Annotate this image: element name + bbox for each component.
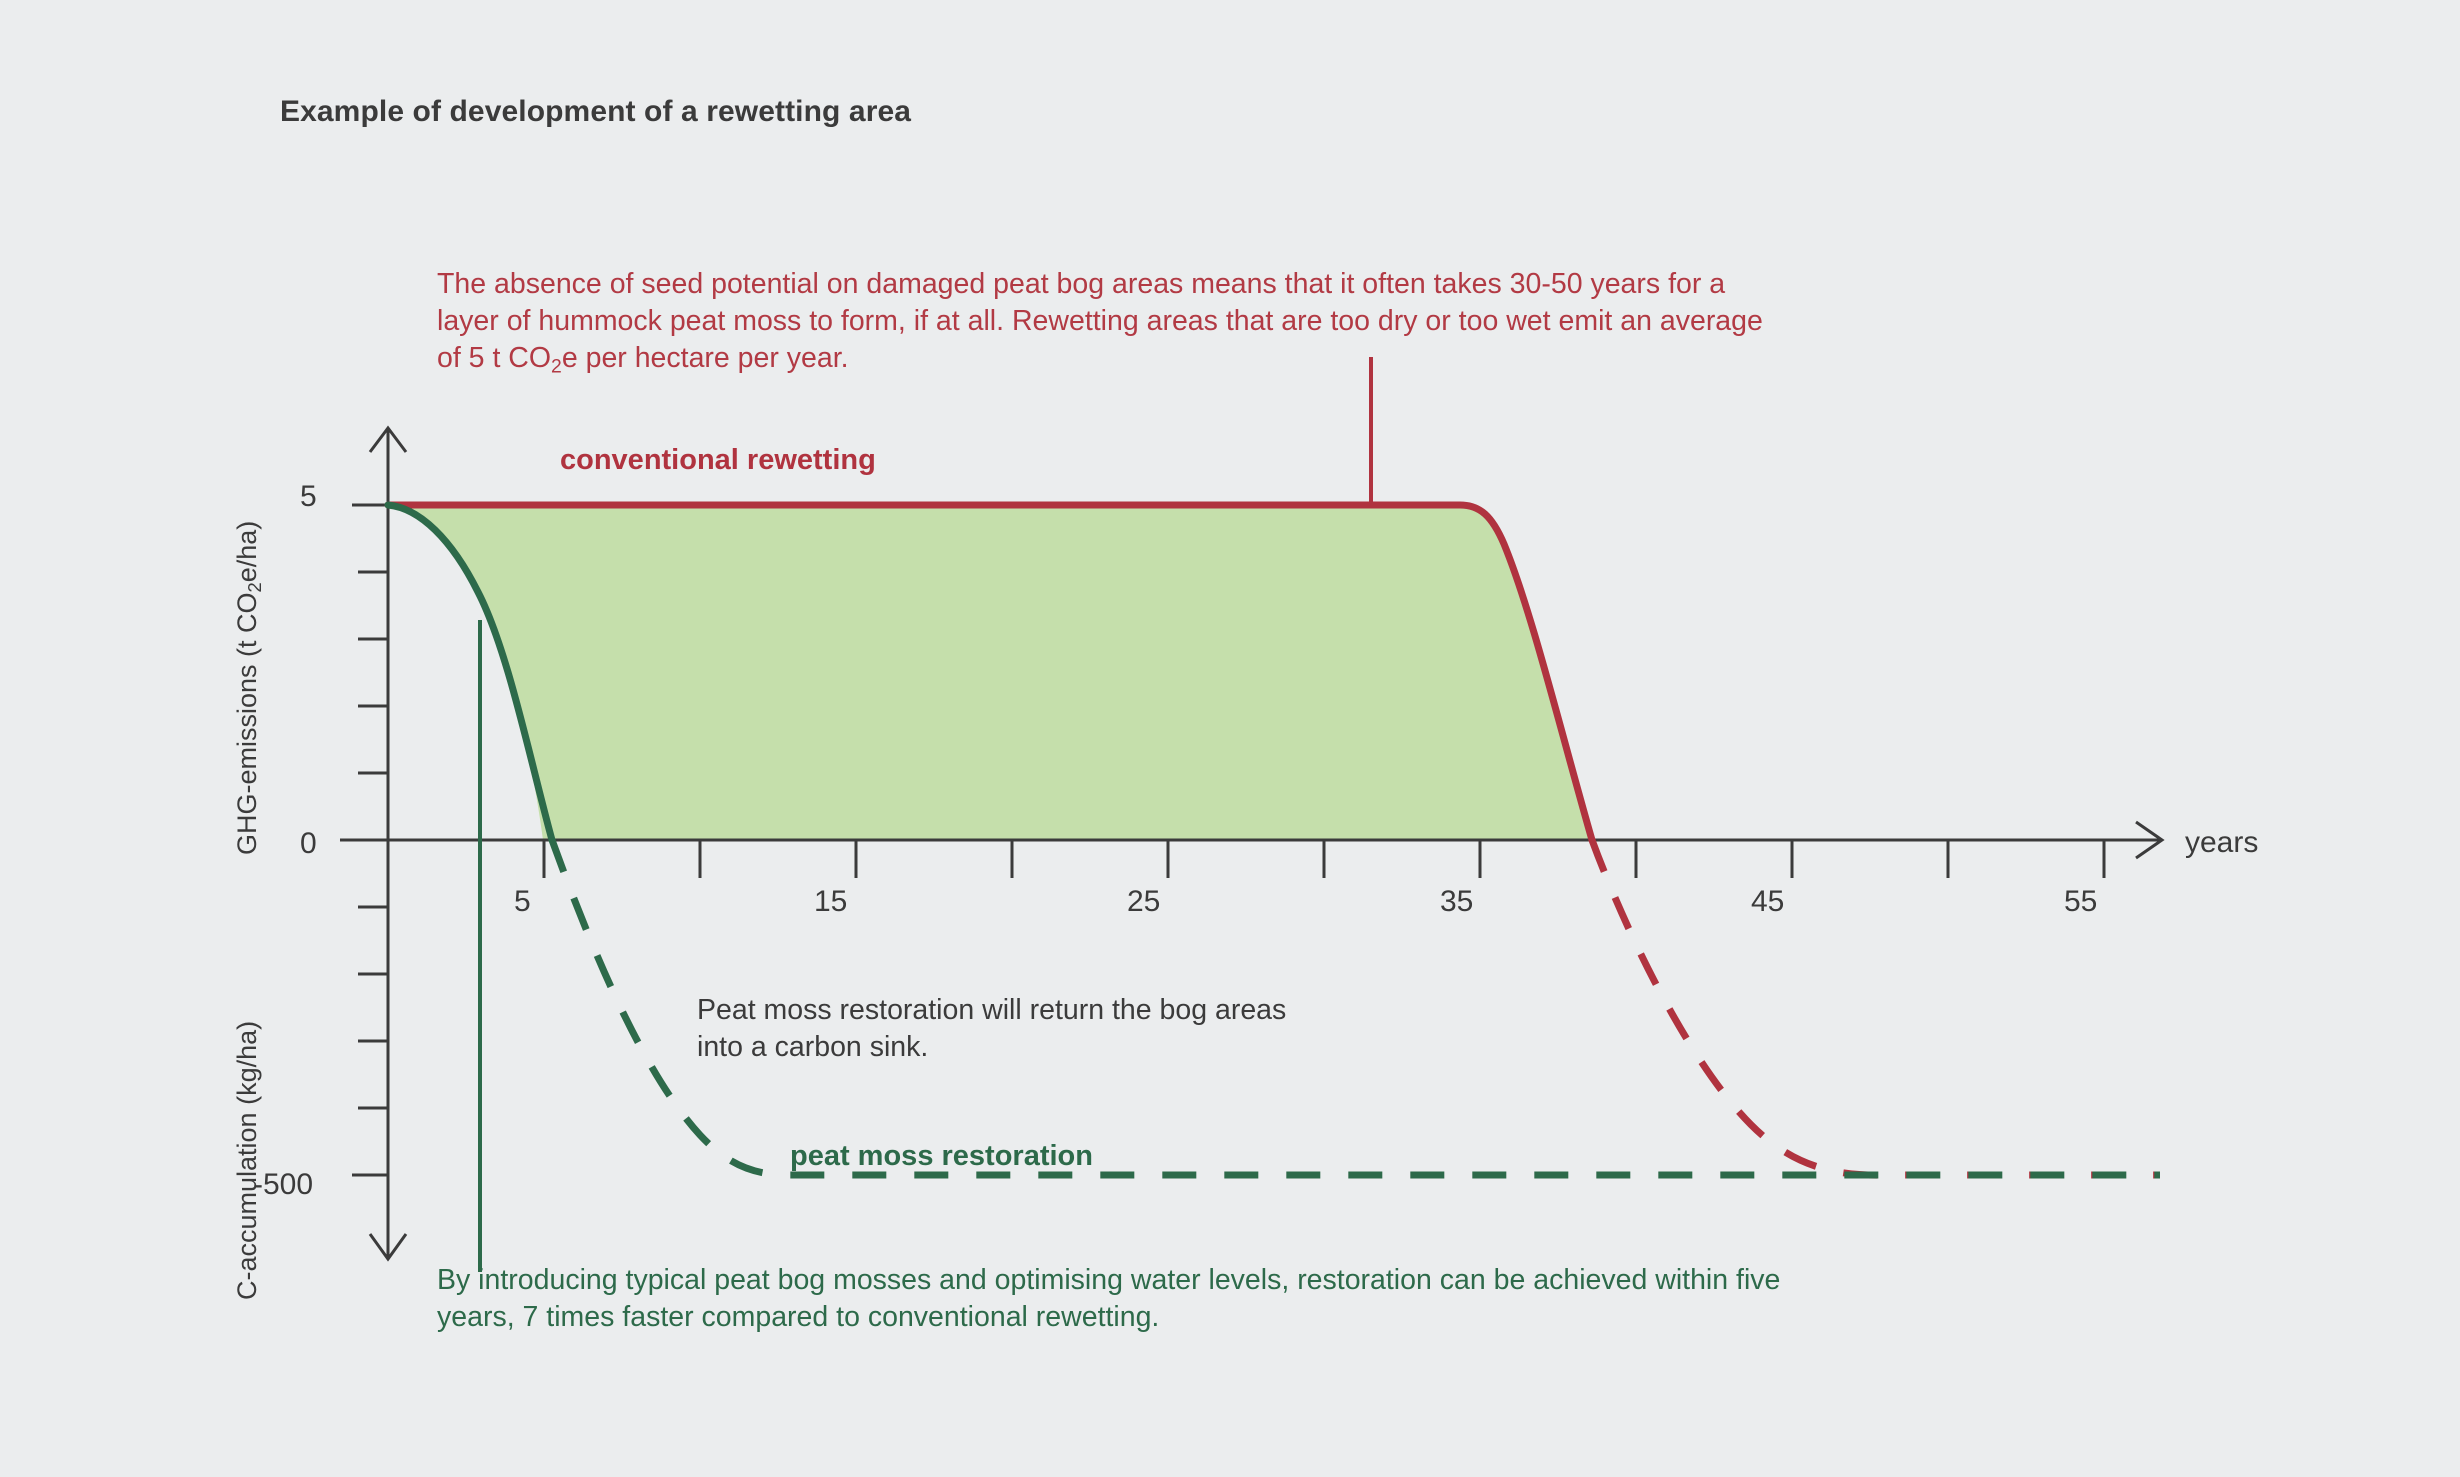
shaded-savings-area: [388, 505, 1590, 840]
series-line-peat-moss-dashed: [552, 840, 2160, 1175]
chart-canvas: [0, 0, 2460, 1477]
infographic-figure: Example of development of a rewetting ar…: [0, 0, 2460, 1477]
series-line-conventional-dashed: [1592, 840, 2160, 1175]
